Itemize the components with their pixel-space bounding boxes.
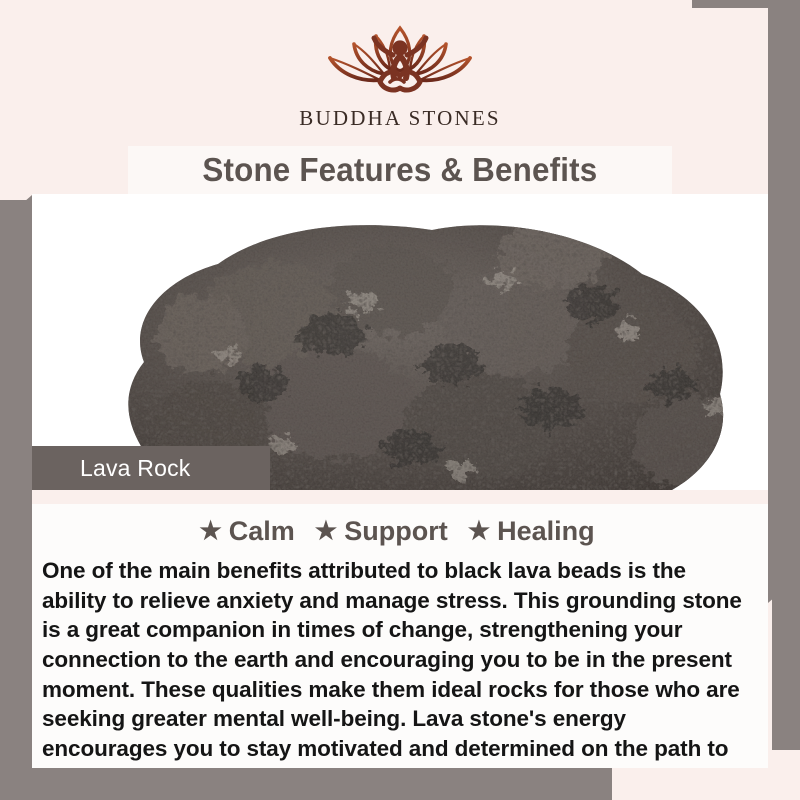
section-divider — [32, 490, 768, 504]
brand-logo: BUDDHA STONES — [32, 18, 768, 131]
page-title: Stone Features & Benefits — [203, 151, 598, 189]
benefit-tag-calm: ★ Calm — [199, 516, 294, 547]
stone-label: Lava Rock — [80, 455, 190, 482]
benefit-tag-label: Healing — [497, 516, 595, 547]
benefit-tag-support: ★ Support — [315, 516, 448, 547]
info-card: BUDDHA STONES Stone Features & Benefits — [32, 8, 768, 768]
stone-label-bar: Lava Rock — [32, 446, 270, 490]
benefit-tags: ★ Calm ★ Support ★ Healing — [42, 516, 752, 547]
benefits-section: ★ Calm ★ Support ★ Healing One of the ma… — [32, 504, 768, 768]
star-icon: ★ — [468, 519, 490, 544]
benefit-tag-healing: ★ Healing — [468, 516, 595, 547]
stone-photo: Lava Rock — [32, 194, 768, 490]
card-header: BUDDHA STONES Stone Features & Benefits — [32, 8, 768, 194]
title-banner: Stone Features & Benefits — [128, 146, 672, 194]
brand-name: BUDDHA STONES — [299, 106, 501, 131]
star-icon: ★ — [315, 519, 337, 544]
benefit-tag-label: Calm — [229, 516, 295, 547]
lotus-meditation-icon — [314, 18, 486, 102]
benefit-tag-label: Support — [344, 516, 447, 547]
star-icon: ★ — [199, 519, 221, 544]
benefits-paragraph: One of the main benefits attributed to b… — [42, 556, 752, 768]
